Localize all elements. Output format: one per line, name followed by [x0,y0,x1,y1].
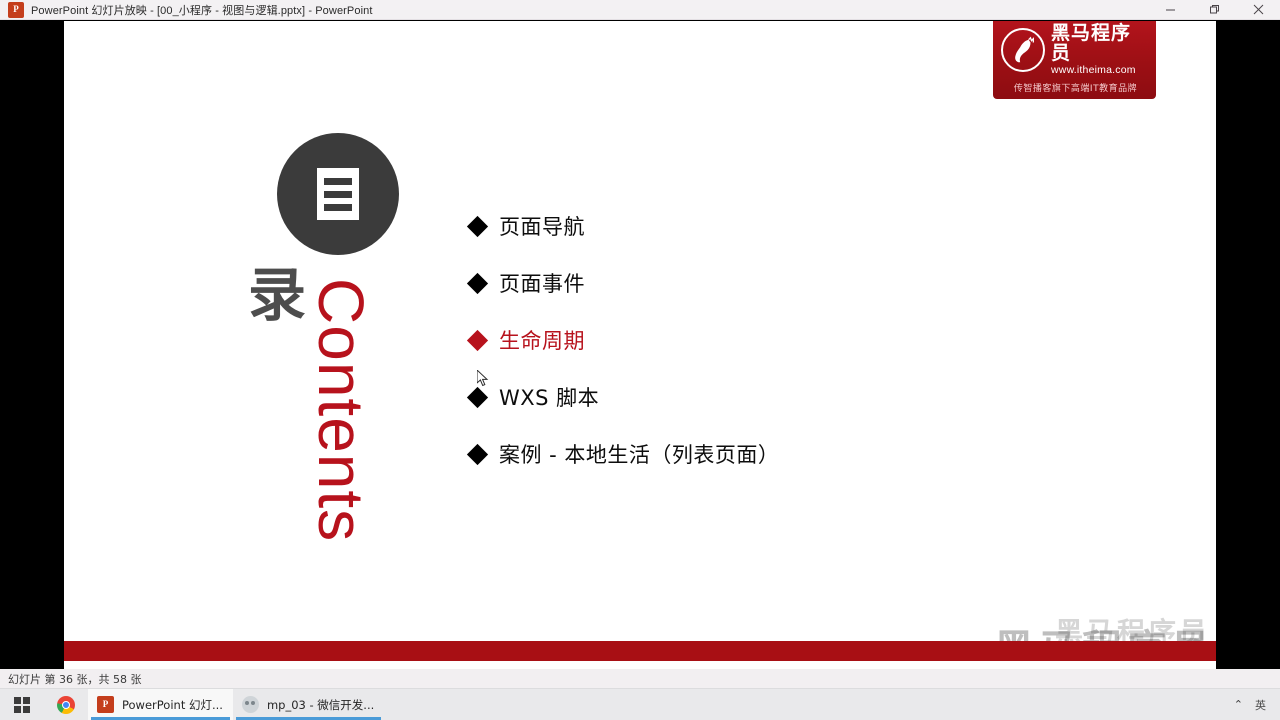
powerpoint-icon-letter: P [103,700,109,709]
logo-url: www.itheima.com [1051,65,1150,76]
list-item[interactable]: 案例 - 本地生活（列表页面） [470,439,779,469]
slide-footer-tail [64,661,1216,669]
win-tile-3 [14,706,21,713]
wechat-devtools-icon [242,696,259,713]
list-item-label: 页面事件 [499,268,585,298]
contents-list: 页面导航 页面事件 生命周期 WXS 脚本 案例 - 本地生活（列表页面） [470,211,779,496]
slide-footer-bar [64,641,1216,661]
itheima-logo: 黑马程序员 www.itheima.com 传智播客旗下高端IT教育品牌 [993,21,1156,99]
doc-line-1 [324,178,352,185]
logo-brand-cn: 黑马程序员 [1051,24,1150,64]
taskbar-item-chrome[interactable] [44,689,88,720]
status-bar: 幻灯片 第 36 张，共 58 张 [0,669,1280,688]
contents-circle [277,133,399,255]
doc-line-3 [324,204,352,211]
win-tile-4 [23,706,30,713]
system-tray: ⌃ 英 [1234,689,1280,720]
window-title: PowerPoint 幻灯片放映 - [00_小程序 - 视图与逻辑.pptx]… [31,2,373,18]
logo-tagline: 传智播客旗下高端IT教育品牌 [1014,81,1137,94]
diamond-bullet-icon [467,329,488,350]
windows-taskbar: P PowerPoint 幻灯... mp_03 - 微信开发... ⌃ 英 [0,688,1280,720]
start-button[interactable] [0,689,44,720]
close-button[interactable] [1236,0,1280,20]
list-item-label: 生命周期 [499,325,585,355]
ime-indicator-icon[interactable]: 英 [1255,697,1266,713]
chrome-icon [57,696,75,714]
logo-text-block: 黑马程序员 www.itheima.com [1051,24,1150,77]
diamond-bullet-icon [467,443,488,464]
horse-glyph [1008,35,1038,65]
taskbar-item-wechat-devtools[interactable]: mp_03 - 微信开发... [233,689,384,720]
heading-en: Contents [309,278,373,542]
win-tile-1 [14,697,21,704]
list-item[interactable]: 页面导航 [470,211,779,241]
screen: P PowerPoint 幻灯片放映 - [00_小程序 - 视图与逻辑.ppt… [0,0,1280,720]
list-item[interactable]: WXS 脚本 [470,382,779,412]
windows-logo-icon [14,697,30,713]
heading-en-wrap: Contents [309,278,379,538]
list-item-label: 页面导航 [499,211,585,241]
logo-top-row: 黑马程序员 www.itheima.com [1001,24,1150,77]
doc-line-2 [324,191,352,198]
taskbar-filler [384,689,1234,720]
powerpoint-icon: P [8,2,24,18]
slide-canvas[interactable]: 黑马程序员 www.itheima.com 传智播客旗下高端IT教育品牌 录 C… [64,21,1216,669]
powerpoint-icon-letter: P [13,5,19,14]
diamond-bullet-icon [467,215,488,236]
restore-button[interactable] [1192,0,1236,20]
diamond-bullet-icon [467,272,488,293]
taskbar-item-label: mp_03 - 微信开发... [267,697,374,713]
list-item[interactable]: 页面事件 [470,268,779,298]
powerpoint-icon: P [97,696,114,713]
taskbar-item-label: PowerPoint 幻灯... [122,697,223,713]
slide-counter: 幻灯片 第 36 张，共 58 张 [8,671,141,687]
list-item-label: WXS 脚本 [499,382,599,412]
window-titlebar: P PowerPoint 幻灯片放映 - [00_小程序 - 视图与逻辑.ppt… [0,0,1280,20]
minimize-button[interactable] [1148,0,1192,20]
contents-document-icon [317,168,359,220]
diamond-bullet-icon [467,386,488,407]
chevron-up-icon[interactable]: ⌃ [1234,698,1243,711]
win-tile-2 [23,697,30,704]
taskbar-item-powerpoint[interactable]: P PowerPoint 幻灯... [88,689,233,720]
list-item-label: 案例 - 本地生活（列表页面） [499,439,779,469]
list-item-active[interactable]: 生命周期 [470,325,779,355]
horse-mark-icon [1001,28,1045,72]
heading-cn: 录 [248,266,306,324]
